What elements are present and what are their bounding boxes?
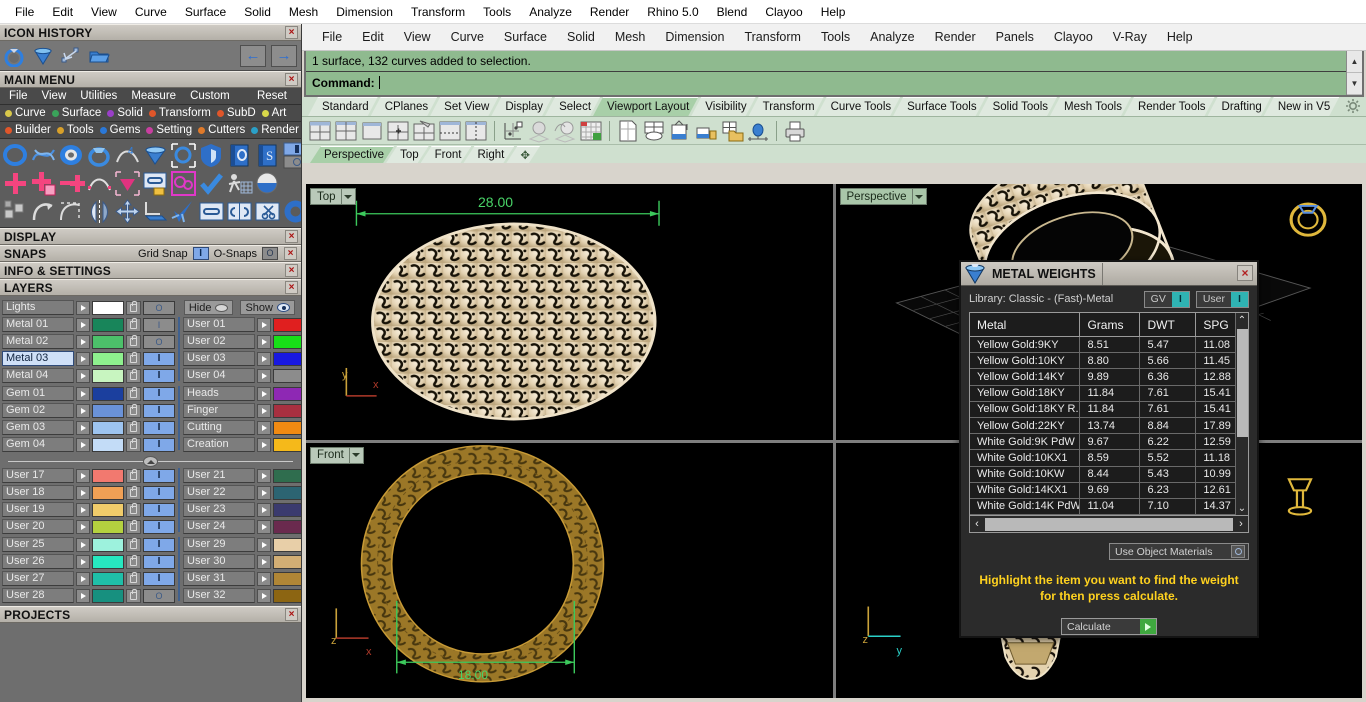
rhino-menu-item-tools[interactable]: Tools [811,26,860,48]
toolbar-tab-drafting[interactable]: Drafting [1208,97,1271,116]
band-ring-icon[interactable] [86,142,113,169]
expand-arrow-icon[interactable] [257,352,271,366]
layer-color-swatch[interactable] [92,335,124,349]
show-layers-button[interactable]: Show [240,300,295,315]
add-point-icon[interactable] [2,170,29,197]
window-menu-item-curve[interactable]: Curve [126,2,176,22]
scroll-down-icon[interactable]: ▼ [1347,73,1362,95]
layer-color-swatch[interactable] [92,301,124,315]
layer-name[interactable]: Metal 02 [2,334,74,349]
lock-icon[interactable] [126,438,141,452]
curve-network-icon[interactable] [30,142,57,169]
collapse-arrow-icon[interactable] [143,456,158,467]
layer-color-swatch[interactable] [273,486,302,500]
window-menu-item-surface[interactable]: Surface [176,2,235,22]
mg-menu-utilities[interactable]: Utilities [73,90,124,102]
window-menu-item-clayoo[interactable]: Clayoo [756,2,811,22]
layer-name[interactable]: Gem 01 [2,386,74,401]
book-gem-icon[interactable] [226,142,253,169]
layer-row[interactable]: User 20I [2,519,175,534]
layer-row[interactable]: User 23I [183,502,302,517]
scrollbar-thumb[interactable] [985,518,1233,531]
layer-visibility-toggle[interactable]: I [143,486,175,500]
layer-color-swatch[interactable] [92,387,124,401]
close-icon[interactable]: × [284,247,297,260]
layer-row[interactable]: Metal 01I [2,317,175,332]
expand-arrow-icon[interactable] [76,404,90,418]
layer-name[interactable]: Creation [183,437,255,452]
layer-name[interactable]: User 26 [2,554,74,569]
rhino-menu-item-file[interactable]: File [312,26,352,48]
layer-name[interactable]: Metal 03 [2,351,74,366]
rhino-menu-item-render[interactable]: Render [925,26,986,48]
expand-arrow-icon[interactable] [257,572,271,586]
toolbar-tab-mesh-tools[interactable]: Mesh Tools [1050,97,1131,116]
layer-color-swatch[interactable] [92,438,124,452]
rhino-menu-item-curve[interactable]: Curve [441,26,494,48]
toolbar-tab-select[interactable]: Select [545,97,600,116]
layer-row-lights[interactable]: Lights O [2,300,175,315]
layer-name[interactable]: User 31 [183,571,255,586]
rhino-menu-item-solid[interactable]: Solid [557,26,605,48]
layer-name[interactable]: User 18 [2,485,74,500]
layer-row[interactable]: User 21I [183,468,302,483]
expand-arrow-icon[interactable] [257,404,271,418]
viewport-tab-top[interactable]: Top [386,146,429,163]
layer-row[interactable]: User 30I [183,554,302,569]
layer-visibility-toggle[interactable]: I [143,318,175,332]
layer-name[interactable]: User 32 [183,588,255,603]
close-icon[interactable]: × [285,608,298,621]
layer-color-swatch[interactable] [92,486,124,500]
explode-icon[interactable] [170,198,197,225]
layer-color-swatch[interactable] [273,438,302,452]
scroll-up-icon[interactable]: ⌃ [1238,313,1246,327]
layer-visibility-toggle[interactable]: I [143,387,175,401]
layer-row[interactable]: CreationI [183,437,302,452]
layer-row[interactable]: FingerI [183,403,302,418]
expand-arrow-icon[interactable] [257,469,271,483]
curve-points-icon[interactable] [86,170,113,197]
layer-name[interactable]: Metal 04 [2,368,74,383]
table-row[interactable]: Yellow Gold:9KY8.515.4711.08 [970,337,1248,353]
metal-weights-dialog[interactable]: METAL WEIGHTS × Library: Classic - (Fast… [959,260,1259,638]
viewport-tab-perspective[interactable]: Perspective [310,146,394,163]
close-icon[interactable]: × [285,73,298,86]
section-layers[interactable]: LAYERS × [0,279,301,296]
layer-row[interactable]: Metal 02O [2,334,175,349]
layer-row[interactable]: User 18I [2,485,175,500]
layer-name[interactable]: User 04 [183,368,255,383]
table-row[interactable]: White Gold:10KX18.595.5211.18 [970,450,1248,466]
scroll-right-icon[interactable]: › [1234,518,1248,530]
expand-arrow-icon[interactable] [76,352,90,366]
layer-row[interactable]: User 04I [183,368,302,383]
use-object-materials-toggle[interactable]: Use Object Materials [1109,543,1249,560]
toolbar-tab-display[interactable]: Display [491,97,552,116]
import-view-icon[interactable] [694,119,718,143]
toolbar-tab-visibility[interactable]: Visibility [691,97,755,116]
toolbar-tab-curve-tools[interactable]: Curve Tools [817,97,901,116]
layer-name[interactable]: User 19 [2,502,74,517]
arc-number-icon[interactable]: 4 [114,142,141,169]
ring-icon[interactable] [4,45,26,67]
move-icon[interactable] [114,198,141,225]
scroll-left-icon[interactable]: ‹ [970,518,984,530]
layer-name[interactable]: User 23 [183,502,255,517]
osnaps-toggle[interactable]: O [262,247,278,260]
layer-visibility-toggle[interactable]: I [143,538,175,552]
layer-row[interactable]: Gem 04I [2,437,175,452]
lock-icon[interactable] [126,538,141,552]
mg-category-subd[interactable]: SubD [214,107,259,119]
toggle-knob-icon[interactable] [1231,545,1245,558]
render-sphere-icon[interactable] [553,119,577,143]
lock-icon[interactable] [126,318,141,332]
window-menu-item-render[interactable]: Render [581,2,638,22]
column-header-metal[interactable]: Metal [970,313,1080,336]
array-boxes-icon[interactable] [2,198,29,225]
expand-arrow-icon[interactable] [76,520,90,534]
layer-row[interactable]: User 24I [183,519,302,534]
mg-menu-custom[interactable]: Custom [183,90,237,102]
layer-visibility-toggle[interactable]: I [143,352,175,366]
user-switch[interactable]: I [1231,292,1248,307]
layer-color-swatch[interactable] [273,503,302,517]
layer-group-scrollbar[interactable] [178,317,180,381]
layer-group-scrollbar[interactable] [178,468,180,532]
layer-group-scrollbar[interactable] [178,537,180,601]
trim-scissors-icon[interactable] [254,198,281,225]
layer-name[interactable]: User 02 [183,334,255,349]
expand-arrow-icon[interactable] [257,520,271,534]
join-icon[interactable] [198,198,225,225]
layer-row[interactable]: Gem 02I [2,403,175,418]
window-menu-item-view[interactable]: View [82,2,126,22]
rhino-menu-item-panels[interactable]: Panels [986,26,1044,48]
expand-arrow-icon[interactable] [257,555,271,569]
layer-color-swatch[interactable] [273,387,302,401]
layer-row[interactable]: CuttingO [183,420,302,435]
rhino-menu-item-v-ray[interactable]: V-Ray [1103,26,1157,48]
toolbar-tab-set-view[interactable]: Set View [430,97,498,116]
lock-icon[interactable] [126,352,141,366]
layer-name[interactable]: Heads [183,386,255,401]
expand-arrow-icon[interactable] [76,438,90,452]
layer-name[interactable]: User 27 [2,571,74,586]
expand-arrow-icon[interactable] [257,421,271,435]
expand-arrow-icon[interactable] [76,421,90,435]
expand-arrow-icon[interactable] [76,301,90,315]
layer-color-swatch[interactable] [92,503,124,517]
rotate-3d-icon[interactable] [142,198,169,225]
table-horizontal-scrollbar[interactable]: ‹ › [969,516,1249,533]
folder-views-icon[interactable] [720,119,744,143]
layer-color-swatch[interactable] [92,469,124,483]
layer-row[interactable]: Gem 01I [2,386,175,401]
mg-category-surface[interactable]: Surface [49,107,105,119]
gv-switch[interactable]: I [1172,292,1189,307]
command-scrollbar[interactable]: ▲ ▼ [1346,51,1362,95]
expand-arrow-icon[interactable] [76,369,90,383]
close-icon[interactable]: × [1237,265,1253,281]
table-row[interactable]: White Gold:10KW8.445.4310.99 [970,467,1248,483]
layer-name[interactable]: User 21 [183,468,255,483]
expand-arrow-icon[interactable] [76,572,90,586]
toolbar-tab-render-tools[interactable]: Render Tools [1124,97,1215,116]
layer-name[interactable]: User 03 [183,351,255,366]
expand-arrow-icon[interactable] [76,318,90,332]
mg-category-cutters[interactable]: Cutters [195,124,248,136]
layer-name[interactable]: User 30 [183,554,255,569]
layer-color-swatch[interactable] [273,520,302,534]
layer-color-swatch[interactable] [273,555,302,569]
toolbar-tab-new-in-v5[interactable]: New in V5 [1264,97,1339,116]
viewport-front[interactable]: Front [306,443,833,699]
layer-name[interactable]: Finger [183,403,255,418]
rhino-menu-item-view[interactable]: View [394,26,441,48]
mg-category-curve[interactable]: Curve [2,107,49,119]
add-point-box-icon[interactable] [30,170,57,197]
layer-color-swatch[interactable] [92,369,124,383]
torus-icon[interactable] [282,198,302,225]
toolbar-tab-surface-tools[interactable]: Surface Tools [893,97,985,116]
gear-icon[interactable] [1345,98,1361,114]
window-menu-item-transform[interactable]: Transform [402,2,474,22]
window-menu-item-file[interactable]: File [6,2,43,22]
layer-color-swatch[interactable] [273,369,302,383]
gv-toggle[interactable]: GV I [1144,291,1190,308]
layer-visibility-toggle[interactable]: O [143,589,175,603]
expand-arrow-icon[interactable] [76,555,90,569]
table-row[interactable]: Yellow Gold:10KY8.805.6611.45 [970,353,1248,369]
scroll-up-icon[interactable]: ▲ [1347,51,1362,73]
layer-name[interactable]: Lights [2,300,74,315]
layer-color-swatch[interactable] [92,404,124,418]
expand-arrow-icon[interactable] [76,486,90,500]
layer-visibility-toggle[interactable]: I [143,404,175,418]
lock-icon[interactable] [126,486,141,500]
lock-icon[interactable] [126,589,141,603]
chevron-down-icon[interactable] [912,189,926,204]
check-icon[interactable] [198,170,225,197]
rhino-menu-item-edit[interactable]: Edit [352,26,394,48]
expand-arrow-icon[interactable] [257,486,271,500]
viewport-label-perspective[interactable]: Perspective [840,188,927,205]
expand-arrow-icon[interactable] [76,335,90,349]
window-menu-item-blend[interactable]: Blend [708,2,757,22]
layer-color-swatch[interactable] [273,538,302,552]
layer-color-swatch[interactable] [273,335,302,349]
expand-arrow-icon[interactable] [257,438,271,452]
section-projects[interactable]: PROJECTS × [0,606,301,623]
lock-icon[interactable] [126,520,141,534]
print-icon[interactable] [783,119,807,143]
table-row[interactable]: Yellow Gold:18KY11.847.6115.41 [970,386,1248,402]
layer-color-swatch[interactable] [92,352,124,366]
window-menu-item-edit[interactable]: Edit [43,2,82,22]
layer-visibility-toggle[interactable]: I [143,369,175,383]
expand-arrow-icon[interactable] [76,538,90,552]
open-folder-icon[interactable] [88,45,110,67]
mg-menu-file[interactable]: File [2,90,35,102]
expand-arrow-icon[interactable] [257,538,271,552]
section-icon-history[interactable]: ICON HISTORY × [0,24,301,41]
subtract-point-icon[interactable] [58,170,85,197]
rhino-menu-item-dimension[interactable]: Dimension [655,26,734,48]
layer-color-swatch[interactable] [273,572,302,586]
layer-row[interactable]: User 02I [183,334,302,349]
section-display[interactable]: DISPLAY × [0,228,301,245]
book-script-icon[interactable]: S [254,142,281,169]
layer-row[interactable]: User 28O [2,588,175,603]
layer-color-swatch[interactable] [92,589,124,603]
table-row[interactable]: White Gold:14K PdW11.047.1014.37 [970,499,1248,515]
mg-category-solid[interactable]: Solid [104,107,146,119]
window-menu-item-analyze[interactable]: Analyze [520,2,581,22]
expand-arrow-icon[interactable] [76,469,90,483]
layer-row[interactable]: User 22I [183,485,302,500]
lock-icon[interactable] [126,421,141,435]
camera-icon[interactable] [746,119,770,143]
layer-color-swatch[interactable] [273,352,302,366]
layer-name[interactable]: Gem 03 [2,420,74,435]
user-toggle[interactable]: User I [1196,291,1249,308]
rhino-menu-item-transform[interactable]: Transform [734,26,811,48]
mg-category-art[interactable]: Art [259,107,290,119]
layer-name[interactable]: User 28 [2,588,74,603]
mg-category-setting[interactable]: Setting [143,124,195,136]
viewport-4-split-icon[interactable] [308,119,332,143]
forward-arrow-icon[interactable]: → [271,45,297,67]
layer-row[interactable]: User 19I [2,502,175,517]
lock-icon[interactable] [126,404,141,418]
layer-color-swatch[interactable] [92,538,124,552]
layer-name[interactable]: Cutting [183,420,255,435]
layer-row[interactable]: User 25I [2,537,175,552]
layer-row[interactable]: Metal 03I [2,351,175,366]
expand-arrow-icon[interactable] [257,369,271,383]
mg-menu-view[interactable]: View [35,90,74,102]
toolbar-tab-viewport-layout[interactable]: Viewport Layout [593,97,698,116]
mirror-icon[interactable] [86,198,113,225]
table-row[interactable]: Yellow Gold:22KY13.748.8417.89 [970,418,1248,434]
expand-arrow-icon[interactable] [257,335,271,349]
layer-visibility-toggle[interactable]: I [143,438,175,452]
table-row[interactable]: Yellow Gold:14KY9.896.3612.88 [970,369,1248,385]
named-views-icon[interactable] [642,119,666,143]
rhino-menu-item-clayoo[interactable]: Clayoo [1044,26,1103,48]
layer-color-swatch[interactable] [92,318,124,332]
close-icon[interactable]: × [285,281,298,294]
layer-name[interactable]: Gem 02 [2,403,74,418]
expand-arrow-icon[interactable] [257,589,271,603]
window-menu-item-help[interactable]: Help [812,2,855,22]
scrollbar-thumb[interactable] [1237,329,1248,437]
close-icon[interactable]: × [285,264,298,277]
table-row[interactable]: White Gold:9K PdW9.676.2212.59 [970,434,1248,450]
rhino-menu-item-mesh[interactable]: Mesh [605,26,656,48]
link-chain-icon[interactable] [142,170,169,197]
gem-cone-icon[interactable] [142,142,169,169]
layer-visibility-toggle[interactable]: I [143,555,175,569]
layer-name[interactable]: User 25 [2,537,74,552]
layer-row[interactable]: User 27I [2,571,175,586]
layer-row[interactable]: User 31I [183,571,302,586]
ring-builder-icon[interactable] [2,142,29,169]
layer-color-swatch[interactable] [273,469,302,483]
viewport-single-icon[interactable] [360,119,384,143]
grid-color-icon[interactable] [579,119,603,143]
viewport-4-equal-icon[interactable] [334,119,358,143]
table-row[interactable]: Yellow Gold:18KY R...11.847.6115.41 [970,402,1248,418]
layer-row[interactable]: Gem 03I [2,420,175,435]
lock-icon[interactable] [126,369,141,383]
lock-icon[interactable] [126,572,141,586]
viewport-tab-front[interactable]: Front [421,146,472,163]
gem-cone-icon[interactable] [32,45,54,67]
lock-icon[interactable] [126,503,141,517]
layer-color-swatch[interactable] [273,318,302,332]
layer-row[interactable]: User 32I [183,588,302,603]
split-icon[interactable] [226,198,253,225]
toolbar-tab-solid-tools[interactable]: Solid Tools [979,97,1057,116]
rhino-menu-item-analyze[interactable]: Analyze [860,26,924,48]
layer-row[interactable]: User 03I [183,351,302,366]
chevron-down-icon[interactable] [341,189,355,204]
layer-color-swatch[interactable] [92,520,124,534]
calculate-button[interactable]: Calculate [1061,618,1157,635]
layer-name[interactable]: User 20 [2,519,74,534]
rhino-menu-item-help[interactable]: Help [1157,26,1203,48]
gem-cluster-icon[interactable] [170,170,197,197]
viewport-split-v-icon[interactable] [464,119,488,143]
lock-icon[interactable] [126,335,141,349]
person-grid-icon[interactable] [226,170,253,197]
layer-name[interactable]: Metal 01 [2,317,74,332]
mg-menu-measure[interactable]: Measure [124,90,183,102]
layer-color-swatch[interactable] [273,404,302,418]
toolbar-tab-cplanes[interactable]: CPlanes [371,97,437,116]
play-arrow-icon[interactable] [1140,619,1156,634]
back-arrow-icon[interactable]: ← [240,45,266,67]
mg-category-gems[interactable]: Gems [97,124,144,136]
layer-visibility-toggle[interactable]: I [143,469,175,483]
layer-row[interactable]: HeadsI [183,386,302,401]
layer-name[interactable]: User 01 [183,317,255,332]
layer-group-scrollbar[interactable] [178,386,180,450]
expand-arrow-icon[interactable] [76,589,90,603]
column-header-dwt[interactable]: DWT [1140,313,1196,336]
layer-name[interactable]: Gem 04 [2,437,74,452]
lock-icon[interactable] [126,555,141,569]
viewport-tab-right[interactable]: Right [463,146,514,163]
layer-row[interactable]: Metal 04I [2,368,175,383]
window-menu-item-tools[interactable]: Tools [474,2,520,22]
chevron-down-icon[interactable] [349,448,363,463]
layer-row[interactable]: User 01I [183,317,302,332]
expand-arrow-icon[interactable] [257,387,271,401]
shaded-sphere-icon[interactable] [527,119,551,143]
window-menu-item-mesh[interactable]: Mesh [280,2,327,22]
layer-name[interactable]: User 17 [2,468,74,483]
mg-category-transform[interactable]: Transform [146,107,214,119]
sphere-band-icon[interactable] [254,170,281,197]
viewport-split-h-icon[interactable] [438,119,462,143]
mg-menu-reset[interactable]: Reset [257,90,299,102]
curve-dashed-icon[interactable] [58,198,85,225]
select-ring-icon[interactable] [170,142,197,169]
